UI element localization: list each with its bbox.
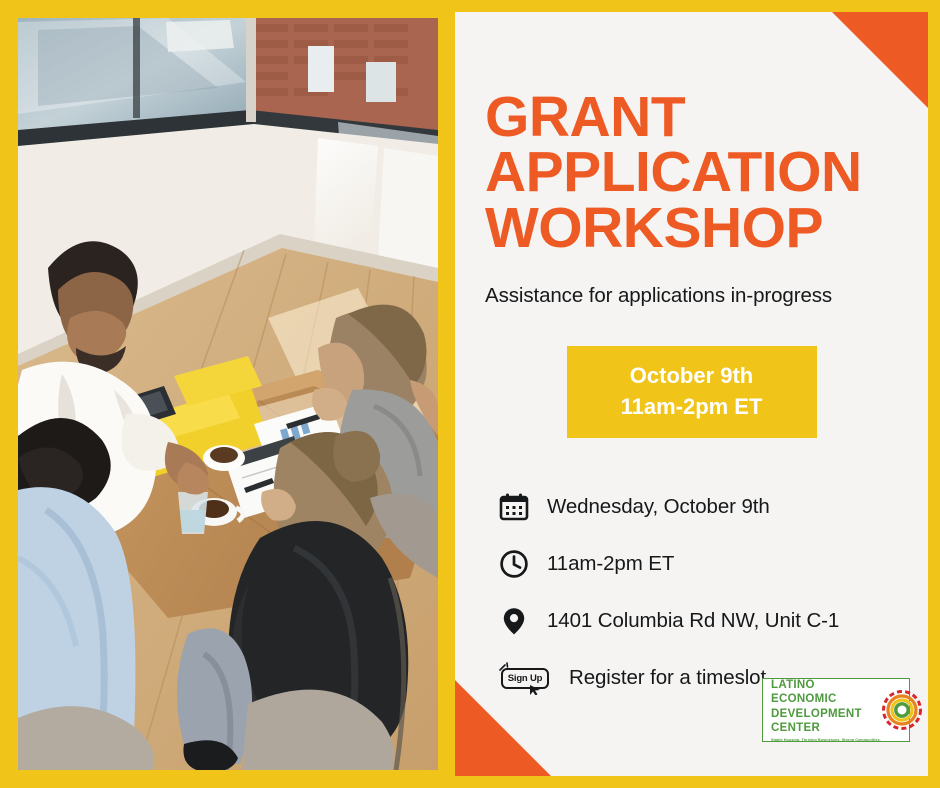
detail-text-location: 1401 Columbia Rd NW, Unit C-1: [547, 609, 839, 633]
logo-tagline: Stable Housing. Thriving Businesses. Str…: [771, 738, 881, 742]
info-card: GRANT APPLICATION WORKSHOP Assistance fo…: [455, 12, 928, 776]
event-details-list: Wednesday, October 9th 11am-2pm ET: [485, 490, 898, 695]
detail-text-date: Wednesday, October 9th: [547, 495, 770, 519]
calendar-icon: [497, 490, 531, 524]
detail-row-time: 11am-2pm ET: [497, 547, 898, 581]
subtitle: Assistance for applications in-progress: [485, 284, 898, 308]
event-flyer: GRANT APPLICATION WORKSHOP Assistance fo…: [0, 0, 940, 788]
clock-icon: [497, 547, 531, 581]
headline-line-3: WORKSHOP: [485, 201, 898, 256]
logo-line-3: DEVELOPMENT CENTER: [771, 707, 881, 735]
date-time-badge: October 9th 11am-2pm ET: [567, 346, 817, 438]
headline-line-1: GRANT: [485, 90, 898, 145]
detail-text-time: 11am-2pm ET: [547, 552, 674, 576]
concentric-rings-logo-icon: [881, 690, 923, 730]
location-pin-icon: [497, 604, 531, 638]
logo-text-block: LATINO ECONOMIC DEVELOPMENT CENTER Stabl…: [771, 678, 881, 741]
cursor-click-icon: [497, 661, 553, 695]
meeting-photo-illustration: [18, 18, 438, 770]
detail-row-location: 1401 Columbia Rd NW, Unit C-1: [497, 604, 898, 638]
organization-logo: LATINO ECONOMIC DEVELOPMENT CENTER Stabl…: [762, 678, 910, 742]
event-photo: [18, 18, 438, 770]
headline-line-2: APPLICATION: [485, 145, 898, 200]
badge-date: October 9th: [577, 360, 807, 391]
page-title: GRANT APPLICATION WORKSHOP: [485, 90, 898, 256]
logo-line-1: LATINO: [771, 678, 881, 692]
badge-time: 11am-2pm ET: [577, 391, 807, 422]
logo-line-2: ECONOMIC: [771, 692, 881, 706]
detail-row-date: Wednesday, October 9th: [497, 490, 898, 524]
detail-text-register: Register for a timeslot: [569, 666, 766, 690]
sign-up-button-icon[interactable]: Sign Up: [497, 661, 553, 695]
